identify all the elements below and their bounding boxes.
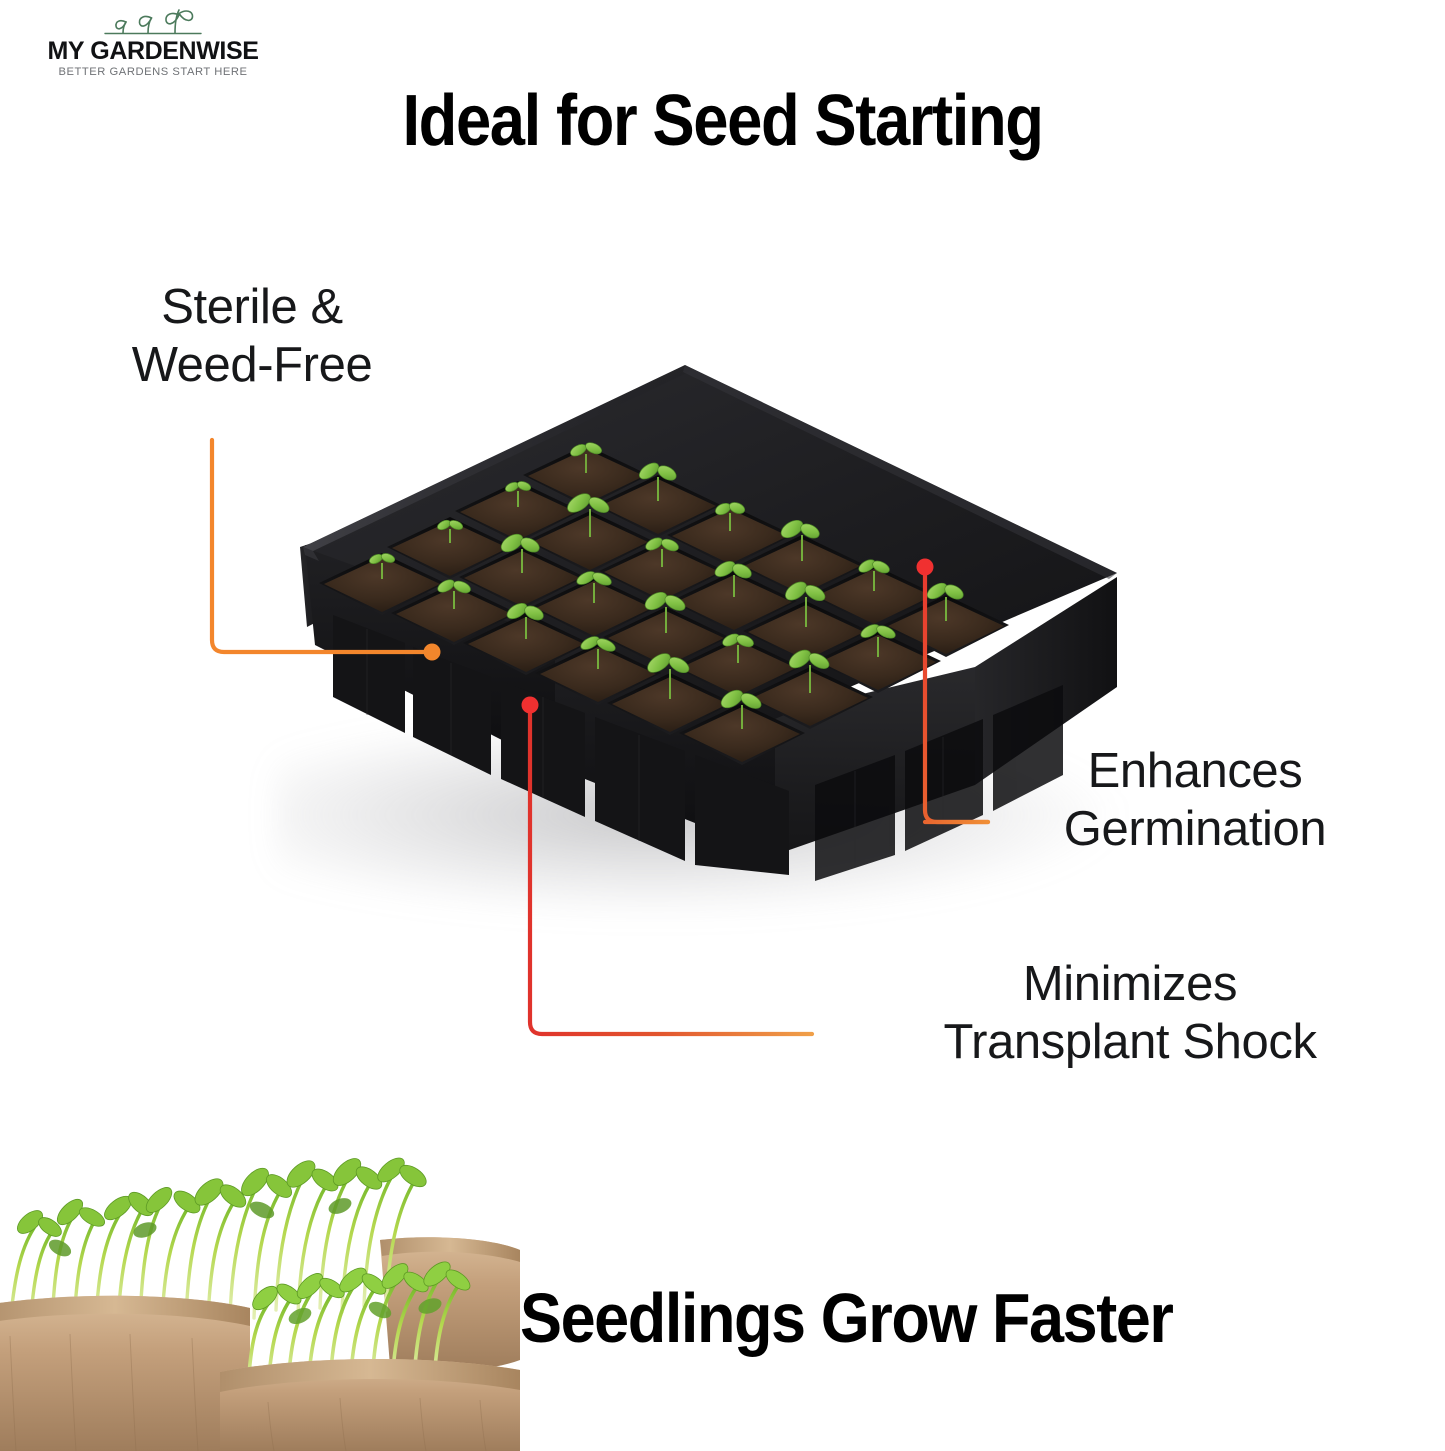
connector-shock bbox=[522, 697, 813, 1035]
callout-germination-line2: Germination bbox=[960, 800, 1430, 858]
callout-shock-line2: Transplant Shock bbox=[830, 1013, 1430, 1071]
callout-shock: Minimizes Transplant Shock bbox=[830, 955, 1430, 1072]
marker-dot-sterile bbox=[424, 644, 441, 661]
footer-title: Seedlings Grow Faster bbox=[520, 1278, 1172, 1358]
callout-shock-line1: Minimizes bbox=[830, 955, 1430, 1013]
callout-connectors bbox=[0, 0, 1445, 1451]
marker-dot-shock bbox=[522, 697, 539, 714]
callout-germination: Enhances Germination bbox=[960, 742, 1430, 859]
callout-germination-line1: Enhances bbox=[960, 742, 1430, 800]
callout-sterile: Sterile & Weed-Free bbox=[52, 278, 452, 395]
marker-dot-germination bbox=[917, 559, 934, 576]
connector-sterile bbox=[212, 440, 441, 661]
callout-sterile-line2: Weed-Free bbox=[52, 336, 452, 394]
callout-sterile-line1: Sterile & bbox=[52, 278, 452, 336]
